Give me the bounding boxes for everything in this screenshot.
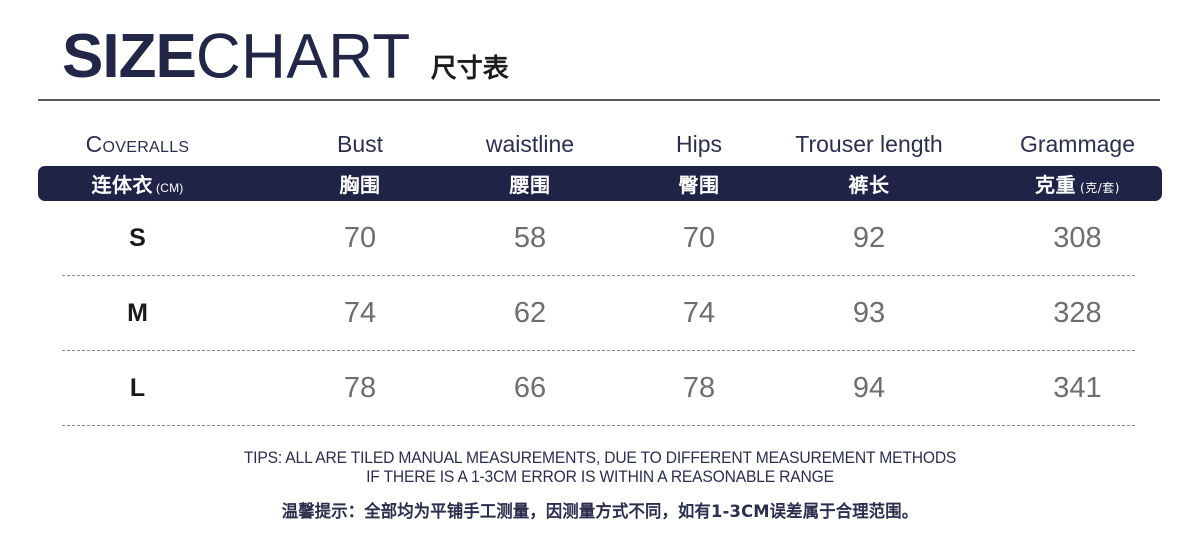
cell-waistline: 58	[445, 222, 615, 255]
table-body: S 70 58 70 92 308 M 74 62 74 93 328 L 78…	[0, 201, 1200, 426]
table-header-chinese: 连体衣(CM) 胸围 腰围 臀围 裤长 克重(克/套)	[0, 166, 1200, 201]
header-en-grammage: Grammage	[955, 131, 1200, 158]
header-cn-trouser-length: 裤长	[783, 169, 955, 198]
header-en-bust: Bust	[275, 131, 445, 158]
header-en-coveralls: Coveralls	[0, 131, 275, 158]
header-cn-hips: 臀围	[615, 169, 783, 198]
tip-english-line-1: TIPS: ALL ARE TILED MANUAL MEASUREMENTS,…	[48, 448, 1152, 467]
row-divider	[62, 425, 1135, 426]
cell-waistline: 66	[445, 372, 615, 405]
cell-size: L	[0, 374, 275, 403]
title-size-word: SIZE	[62, 26, 196, 88]
cell-waistline: 62	[445, 297, 615, 330]
table-row: L 78 66 78 94 341	[0, 351, 1200, 425]
table-header-english: Coveralls Bust waistline Hips Trouser le…	[0, 128, 1200, 160]
header-unit-gram-per-set: (克/套)	[1080, 181, 1120, 195]
cell-hips: 74	[615, 297, 783, 330]
header-cn-waistline: 腰围	[445, 169, 615, 198]
table-row: M 74 62 74 93 328	[0, 276, 1200, 350]
cell-trouser-length: 94	[783, 372, 955, 405]
header-unit-cm: (CM)	[156, 181, 183, 195]
cell-bust: 70	[275, 222, 445, 255]
header-cn-coveralls: 连体衣(CM)	[0, 169, 275, 198]
table-row: S 70 58 70 92 308	[0, 201, 1200, 275]
cell-bust: 74	[275, 297, 445, 330]
cell-trouser-length: 93	[783, 297, 955, 330]
cell-trouser-length: 92	[783, 222, 955, 255]
title-chinese: 尺寸表	[431, 56, 509, 82]
cell-grammage: 341	[955, 372, 1200, 405]
cell-grammage: 308	[955, 222, 1200, 255]
tip-english-line-2: IF THERE IS A 1-3CM ERROR IS WITHIN A RE…	[48, 467, 1152, 486]
cell-grammage: 328	[955, 297, 1200, 330]
footer-tips: TIPS: ALL ARE TILED MANUAL MEASUREMENTS,…	[0, 448, 1200, 522]
cell-hips: 70	[615, 222, 783, 255]
header-cn-grammage-label: 克重	[1035, 173, 1076, 197]
header-cn-grammage: 克重(克/套)	[955, 169, 1200, 198]
header-en-waistline: waistline	[445, 131, 615, 158]
title-chart-word: CHART	[196, 25, 411, 88]
page-title: SIZE CHART 尺寸表	[62, 26, 509, 88]
cell-size: S	[0, 224, 275, 253]
tip-chinese: 温馨提示：全部均为平铺手工测量，因测量方式不同，如有1-3CM误差属于合理范围。	[24, 497, 1176, 522]
size-chart-table: Coveralls Bust waistline Hips Trouser le…	[0, 128, 1200, 160]
header-en-hips: Hips	[615, 131, 783, 158]
cell-bust: 78	[275, 372, 445, 405]
cell-hips: 78	[615, 372, 783, 405]
header-cn-coveralls-label: 连体衣	[92, 173, 154, 197]
cell-size: M	[0, 299, 275, 328]
title-divider	[38, 99, 1160, 101]
header-en-trouser-length: Trouser length	[783, 131, 955, 158]
header-cn-bust: 胸围	[275, 169, 445, 198]
